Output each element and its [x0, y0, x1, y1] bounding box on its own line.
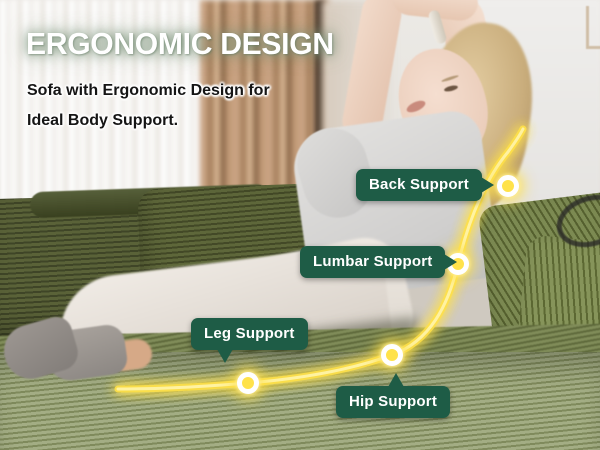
banner-subtitle: Sofa with Ergonomic Design for Ideal Bod…	[27, 76, 270, 136]
banner-subtitle-line2: Ideal Body Support.	[27, 106, 270, 136]
ergonomic-support-curve	[0, 0, 600, 450]
banner-subtitle-line1: Sofa with Ergonomic Design for	[27, 76, 270, 106]
banner-heading: ERGONOMIC DESIGN	[26, 26, 334, 62]
curve-dot-hip	[381, 344, 403, 366]
callout-hip-support[interactable]: Hip Support	[336, 386, 450, 418]
product-marketing-banner: Back Support Lumbar Support Leg Support …	[0, 0, 600, 450]
curve-dot-back	[497, 175, 519, 197]
callout-back-support[interactable]: Back Support	[356, 169, 482, 201]
curve-dot-leg	[237, 372, 259, 394]
callout-lumbar-support[interactable]: Lumbar Support	[300, 246, 445, 278]
callout-leg-support[interactable]: Leg Support	[191, 318, 308, 350]
